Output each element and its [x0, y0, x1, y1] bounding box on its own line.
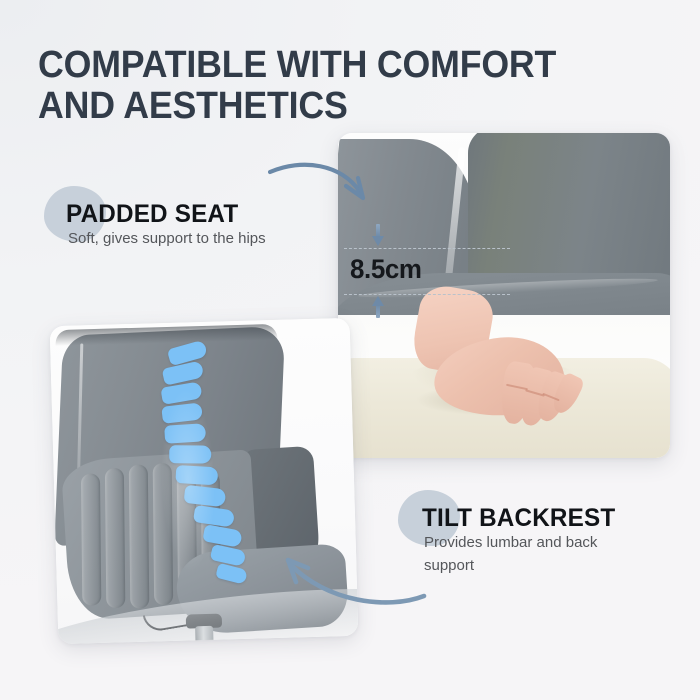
arrow-head [372, 236, 384, 246]
seat-rib [153, 463, 173, 605]
page-title: COMPATIBLE WITH COMFORT AND AESTHETICS [38, 45, 630, 127]
feature-title: PADDED SEAT [66, 200, 258, 229]
vertebra [169, 445, 211, 463]
feature-description: Provides lumbar and back support [424, 532, 639, 577]
arrow-stem [376, 305, 380, 318]
measure-guide-line-top [344, 248, 510, 249]
photo-chair-with-spine [50, 318, 359, 644]
infographic-canvas: COMPATIBLE WITH COMFORT AND AESTHETICS [0, 0, 700, 700]
page-title-line-2: AND AESTHETICS [38, 86, 630, 127]
feature-title: TILT BACKREST [422, 504, 631, 533]
feature-padded-seat: PADDED SEAT Soft, gives support to the h… [44, 186, 242, 251]
measurement-value: 8.5cm [350, 254, 422, 285]
arrow-down-icon [372, 224, 384, 246]
seat-rib [105, 468, 125, 608]
vertebra [175, 465, 218, 485]
arrow-up-icon [372, 296, 384, 318]
seat-thickness-measurement: 8.5cm [344, 222, 520, 318]
photo-card-chair-spine [50, 318, 359, 644]
feature-tilt-backrest: TILT BACKREST Provides lumbar and back s… [398, 490, 613, 577]
hand-pressing-foam [410, 316, 582, 434]
feature-description: Soft, gives support to the hips [68, 228, 266, 251]
page-title-line-1: COMPATIBLE WITH COMFORT [38, 44, 556, 86]
seat-rib [129, 464, 150, 608]
seat-rib [81, 474, 101, 606]
arrow-head [372, 296, 384, 306]
measure-guide-line-bottom [344, 294, 510, 295]
vertebra [164, 423, 206, 444]
spine-overlay [50, 318, 350, 326]
foam-photo-area [338, 315, 670, 458]
